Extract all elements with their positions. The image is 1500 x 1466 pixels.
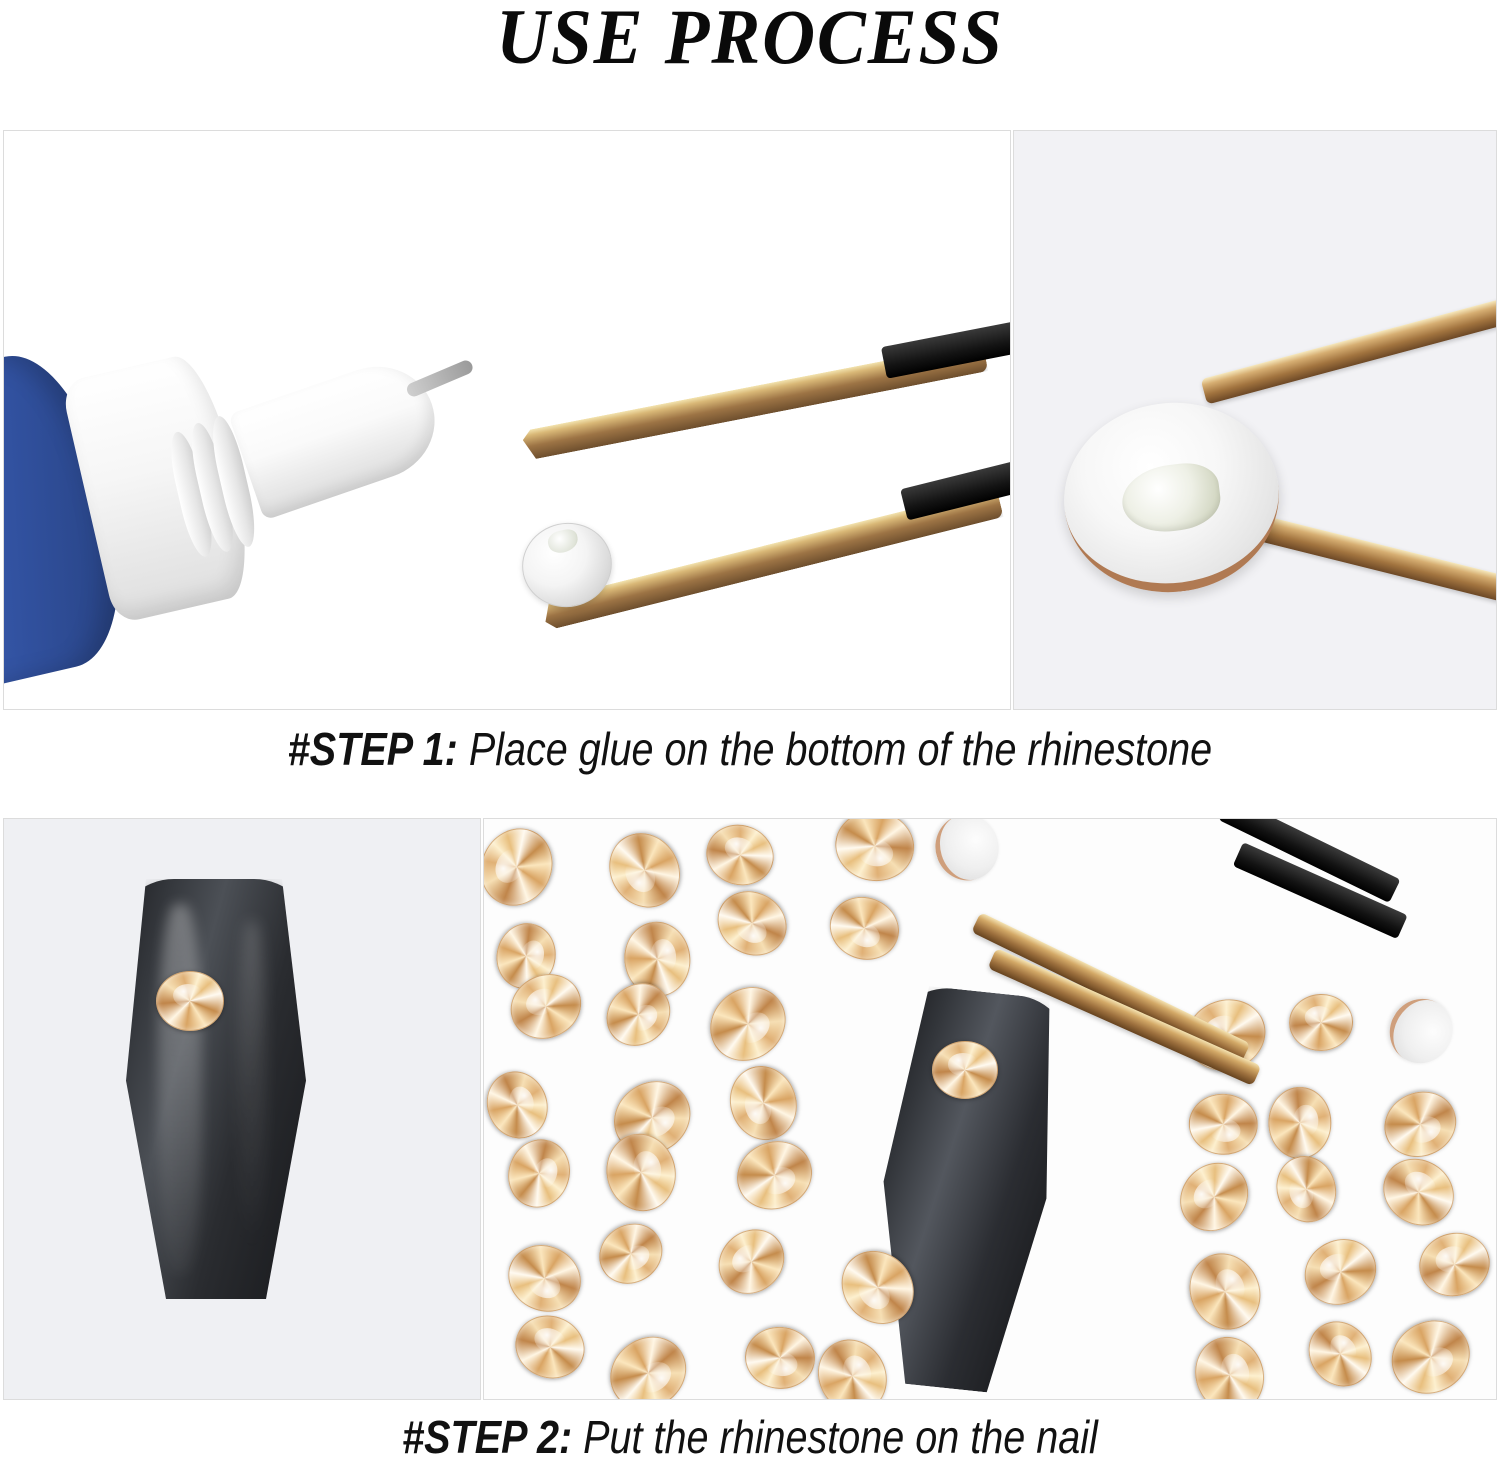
rhinestone (1379, 1307, 1483, 1400)
tweezer-upper-arm (1201, 294, 1497, 405)
black-nail-with-rhinestone-photo (3, 818, 481, 1400)
page-title: USE PROCESS (45, 0, 1455, 78)
rhinestone (1412, 1225, 1497, 1304)
rhinestone (595, 819, 694, 921)
glue-bottle: R P (3, 267, 467, 710)
rhinestone (742, 1324, 817, 1392)
glue-on-rhinestone-back-photo (1013, 130, 1497, 710)
step1-caption: #STEP 1: Place glue on the bottom of the… (105, 722, 1395, 776)
rhinestone-flat-back (1379, 988, 1465, 1075)
rhinestone (483, 818, 565, 918)
rhinestone (727, 1130, 821, 1219)
step1-photo-row: R P (3, 130, 1497, 710)
nail-highlight-secondary (238, 921, 266, 1249)
rhinestone (1185, 1328, 1274, 1400)
rhinestone (706, 879, 798, 968)
rhinestone (1370, 1145, 1466, 1238)
rhinestone (597, 1322, 701, 1400)
glue-bottle-and-tweezer-photo: R P (3, 130, 1011, 710)
step2-label: #STEP 2: (402, 1411, 572, 1463)
rhinestone (705, 1215, 797, 1307)
rhinestone (720, 1058, 806, 1150)
glue-dab (1118, 459, 1223, 536)
rhinestone-pile-and-tweezer-photo (483, 818, 1497, 1400)
rhinestone (507, 1306, 593, 1387)
rhinestone (1268, 1087, 1331, 1159)
rhinestone (1296, 1309, 1386, 1400)
rhinestone (699, 818, 781, 893)
step1-text: Place glue on the bottom of the rhinesto… (458, 723, 1212, 775)
rhinestone (1294, 1228, 1387, 1317)
rhinestone-being-placed (932, 1041, 998, 1099)
step2-caption: #STEP 2: Put the rhinestone on the nail (105, 1410, 1395, 1464)
rhinestone (1166, 1149, 1262, 1245)
rhinestone (830, 818, 919, 886)
glue-bottle-tip (405, 358, 475, 398)
rhinestone (1187, 1092, 1259, 1156)
rhinestone (1177, 1241, 1274, 1342)
rhinestone (588, 1212, 674, 1296)
rhinestone-flat-back (927, 818, 1007, 888)
rhinestone (1375, 1081, 1467, 1168)
rhinestone (483, 1062, 557, 1147)
rhinestone-on-nail (156, 971, 224, 1031)
step1-label: #STEP 1: (288, 723, 458, 775)
rhinestone (695, 972, 801, 1077)
step2-text: Put the rhinestone on the nail (572, 1411, 1098, 1463)
rhinestone (1288, 993, 1354, 1052)
rhinestone (500, 1131, 579, 1215)
rhinestone (498, 1234, 592, 1323)
press-on-nail (114, 879, 314, 1299)
nail-highlight (158, 904, 202, 1274)
glue-dab (546, 527, 580, 555)
rhinestone (1269, 1149, 1345, 1230)
rhinestone (806, 1327, 900, 1400)
rhinestone (821, 887, 909, 970)
step2-photo-row (3, 818, 1497, 1400)
rhinestone-flat-back (1053, 391, 1289, 605)
glue-bottle-nozzle (228, 351, 450, 521)
